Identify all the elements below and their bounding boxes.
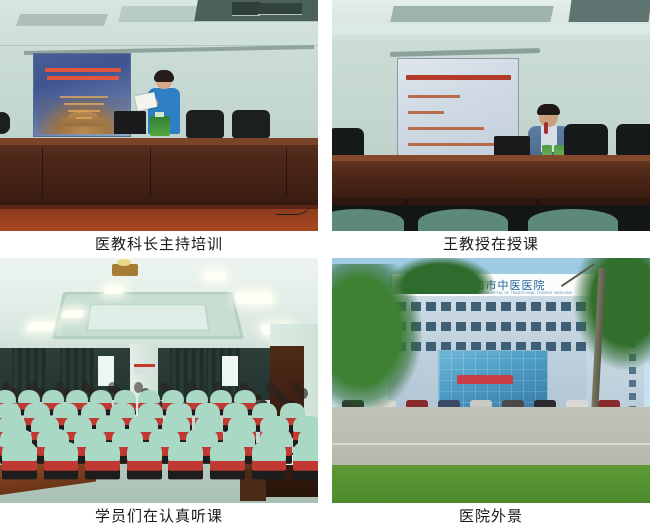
building-window [531,302,541,311]
building-window [531,322,541,331]
slide-subtitle-line [64,103,104,105]
photo-gallery-page: 医教科长主持培训 [0,0,650,530]
audience-seat [293,442,318,461]
chair [332,128,364,158]
audience-seat [186,390,208,403]
building-window [471,322,481,331]
chair [232,110,270,138]
slide-bullet-2 [408,111,444,114]
building-window [441,322,451,331]
building-window [426,302,436,311]
audience-seat [528,209,618,231]
microphone [544,122,548,134]
ceiling-beam [568,0,650,22]
slide-bullet-1 [408,95,460,98]
ceiling-vent [232,2,260,16]
chair [616,124,650,156]
gallery-row-1: 医教科长主持培训 [0,0,650,258]
building-window [441,302,451,311]
audience-seat [138,390,160,403]
slide-subtitle-line [68,110,100,112]
building-window [486,302,496,311]
photo-audience-listening [0,258,318,503]
photo-professor-lecturing [332,0,650,231]
audience-seat [210,442,245,461]
audience-seat [252,442,287,461]
ceiling-vent [258,3,302,15]
building-window [516,302,526,311]
audience-seat [44,442,79,461]
ceiling-vent [390,6,553,22]
audience-seat [234,390,256,403]
podium-desk [332,155,650,200]
slide-title-line-2 [47,76,119,80]
audience-seat [90,390,112,403]
slide-title-bar [406,75,511,80]
audience-seat [114,390,136,403]
desk-edge [0,138,318,145]
building-window [561,342,571,351]
grass-lawn [332,465,650,503]
audience-seat [162,390,184,403]
laptop [114,111,146,134]
podium-desk [0,138,318,198]
audience-seat [18,390,40,403]
desk-seam [286,147,287,197]
road [332,407,650,467]
caption-training-host: 医教科长主持培训 [0,231,318,258]
audience-seat [66,390,88,403]
ceiling-lamp [26,322,55,331]
building-window [501,322,511,331]
ceiling-panel [16,14,108,26]
gallery-cell-professor-lecturing: 王教授在授课 [325,0,650,258]
building-window [561,302,571,311]
wall-sign [134,364,155,374]
audience-seat [0,390,16,403]
slide-bullet-4 [408,143,496,146]
slide-subtitle-line [60,96,108,98]
audience-seat [210,390,232,403]
building-window [426,342,436,351]
gallery-cell-audience-listening: 学员们在认真听课 [0,258,325,530]
caption-audience-listening: 学员们在认真听课 [0,503,318,530]
ceiling-lamp [204,272,226,280]
gallery-cell-training-host: 医教科长主持培训 [0,0,325,258]
caption-professor-lecturing: 王教授在授课 [332,231,650,258]
desk-seam [42,147,43,197]
ceiling-lamp [235,292,273,304]
road-marking [332,443,650,445]
building-window [501,302,511,311]
seat-rows [0,388,318,460]
chair [564,124,608,156]
ceiling-step [332,24,650,34]
audience-seat [42,390,64,403]
building-window [486,322,496,331]
photo-training-host [0,0,318,231]
entrance-sign [457,375,513,384]
ceiling-light-fixture [112,264,138,276]
slide-bullet-3 [408,127,484,130]
building-window [456,302,466,311]
ceiling-lamp [61,310,86,318]
ceiling-coffer-inner [86,304,210,332]
building-window [546,322,556,331]
tree-right [572,258,650,372]
building-window [516,322,526,331]
desk-seam [150,147,151,197]
slide-title-line-1 [45,68,121,72]
tree-canopy-top [376,258,506,294]
audience-seat [168,442,203,461]
building-window [456,322,466,331]
presenter-hair [154,70,174,82]
building-window [561,322,571,331]
water-bottle [150,116,170,136]
audience-seat [85,442,120,461]
speaker-hair [537,104,560,115]
ceiling-lamp [103,286,125,294]
audience-seat [418,209,508,231]
building-window [471,302,481,311]
slide-subtitle-line [76,117,92,119]
audience-seat [127,442,162,461]
desk-edge [332,155,650,161]
photo-hospital-exterior: 海口市中医医院 HAIKOU HOSPITAL OF TRADITIONAL C… [332,258,650,503]
building-window [546,302,556,311]
gallery-row-2: 学员们在认真听课 海口市中医医院 HAIKOU HOSPITAL OF TRAD… [0,258,650,530]
gallery-cell-hospital-exterior: 海口市中医医院 HAIKOU HOSPITAL OF TRADITIONAL C… [325,258,650,530]
chair [186,110,224,138]
caption-hospital-exterior: 医院外景 [332,503,650,530]
audience-seat [2,442,37,461]
building-window [426,322,436,331]
floor [0,209,318,231]
